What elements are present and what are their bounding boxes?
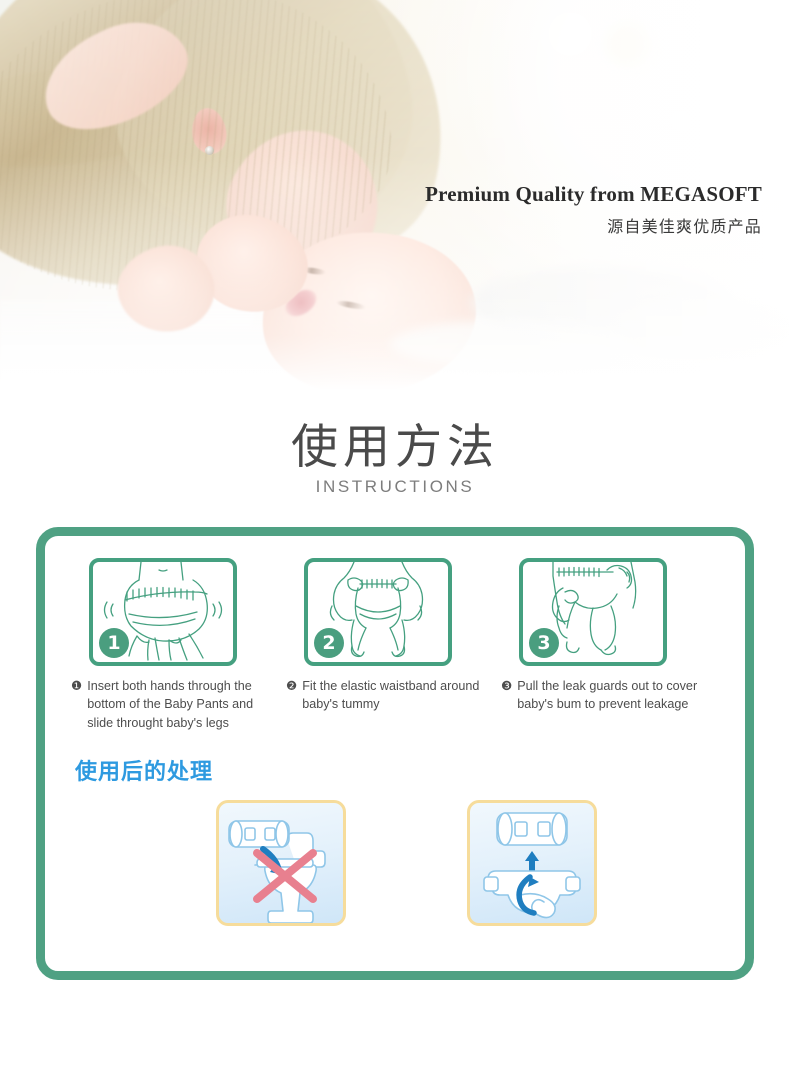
disposal-heading: 使用后的处理 bbox=[75, 754, 719, 786]
step-description: Fit the elastic waistband around baby's … bbox=[302, 677, 493, 714]
hero-tagline: Premium Quality from MEGASOFT 源自美佳爽优质产品 bbox=[425, 182, 762, 237]
disposal-list bbox=[71, 800, 719, 926]
step-bullet: ❸ bbox=[501, 677, 512, 714]
step-bullet: ❶ bbox=[71, 677, 82, 732]
fitting-elastic-waistband-icon: 2 bbox=[304, 558, 452, 666]
step-item: 1 ❶ Insert both hands through the bottom… bbox=[71, 558, 278, 732]
step-number-badge: 3 bbox=[529, 628, 559, 658]
product-detail-page: Premium Quality from MEGASOFT 源自美佳爽优质产品 … bbox=[0, 0, 790, 1070]
pulling-leak-guards-icon: 3 bbox=[519, 558, 667, 666]
instructions-panel: 1 ❶ Insert both hands through the bottom… bbox=[36, 527, 754, 980]
hero-tagline-en: Premium Quality from MEGASOFT bbox=[425, 182, 762, 207]
step-item: 3 ❸ Pull the leak guards out to cover ba… bbox=[501, 558, 708, 732]
hands-inserting-through-baby-pants-icon: 1 bbox=[89, 558, 237, 666]
step-number-badge: 1 bbox=[99, 628, 129, 658]
instructions-heading-cn: 使用方法 bbox=[0, 422, 790, 473]
step-item: 2 ❷ Fit the elastic waistband around bab… bbox=[286, 558, 493, 732]
instructions-heading-en: INSTRUCTIONS bbox=[0, 477, 790, 497]
up-arrow-icon bbox=[525, 851, 539, 871]
instructions-heading: 使用方法 INSTRUCTIONS bbox=[0, 422, 790, 497]
step-text: ❷ Fit the elastic waistband around baby'… bbox=[286, 677, 493, 714]
step-number-badge: 2 bbox=[314, 628, 344, 658]
steps-list: 1 ❶ Insert both hands through the bottom… bbox=[71, 558, 719, 732]
roll-up-diaper-icon bbox=[467, 800, 597, 926]
step-text: ❶ Insert both hands through the bottom o… bbox=[71, 677, 278, 732]
step-text: ❸ Pull the leak guards out to cover baby… bbox=[501, 677, 708, 714]
step-description: Pull the leak guards out to cover baby's… bbox=[517, 677, 708, 714]
do-not-flush-in-toilet-icon bbox=[216, 800, 346, 926]
step-description: Insert both hands through the bottom of … bbox=[87, 677, 278, 732]
hero-tagline-cn: 源自美佳爽优质产品 bbox=[425, 213, 762, 237]
hero-banner: Premium Quality from MEGASOFT 源自美佳爽优质产品 bbox=[0, 0, 790, 390]
step-bullet: ❷ bbox=[286, 677, 297, 714]
